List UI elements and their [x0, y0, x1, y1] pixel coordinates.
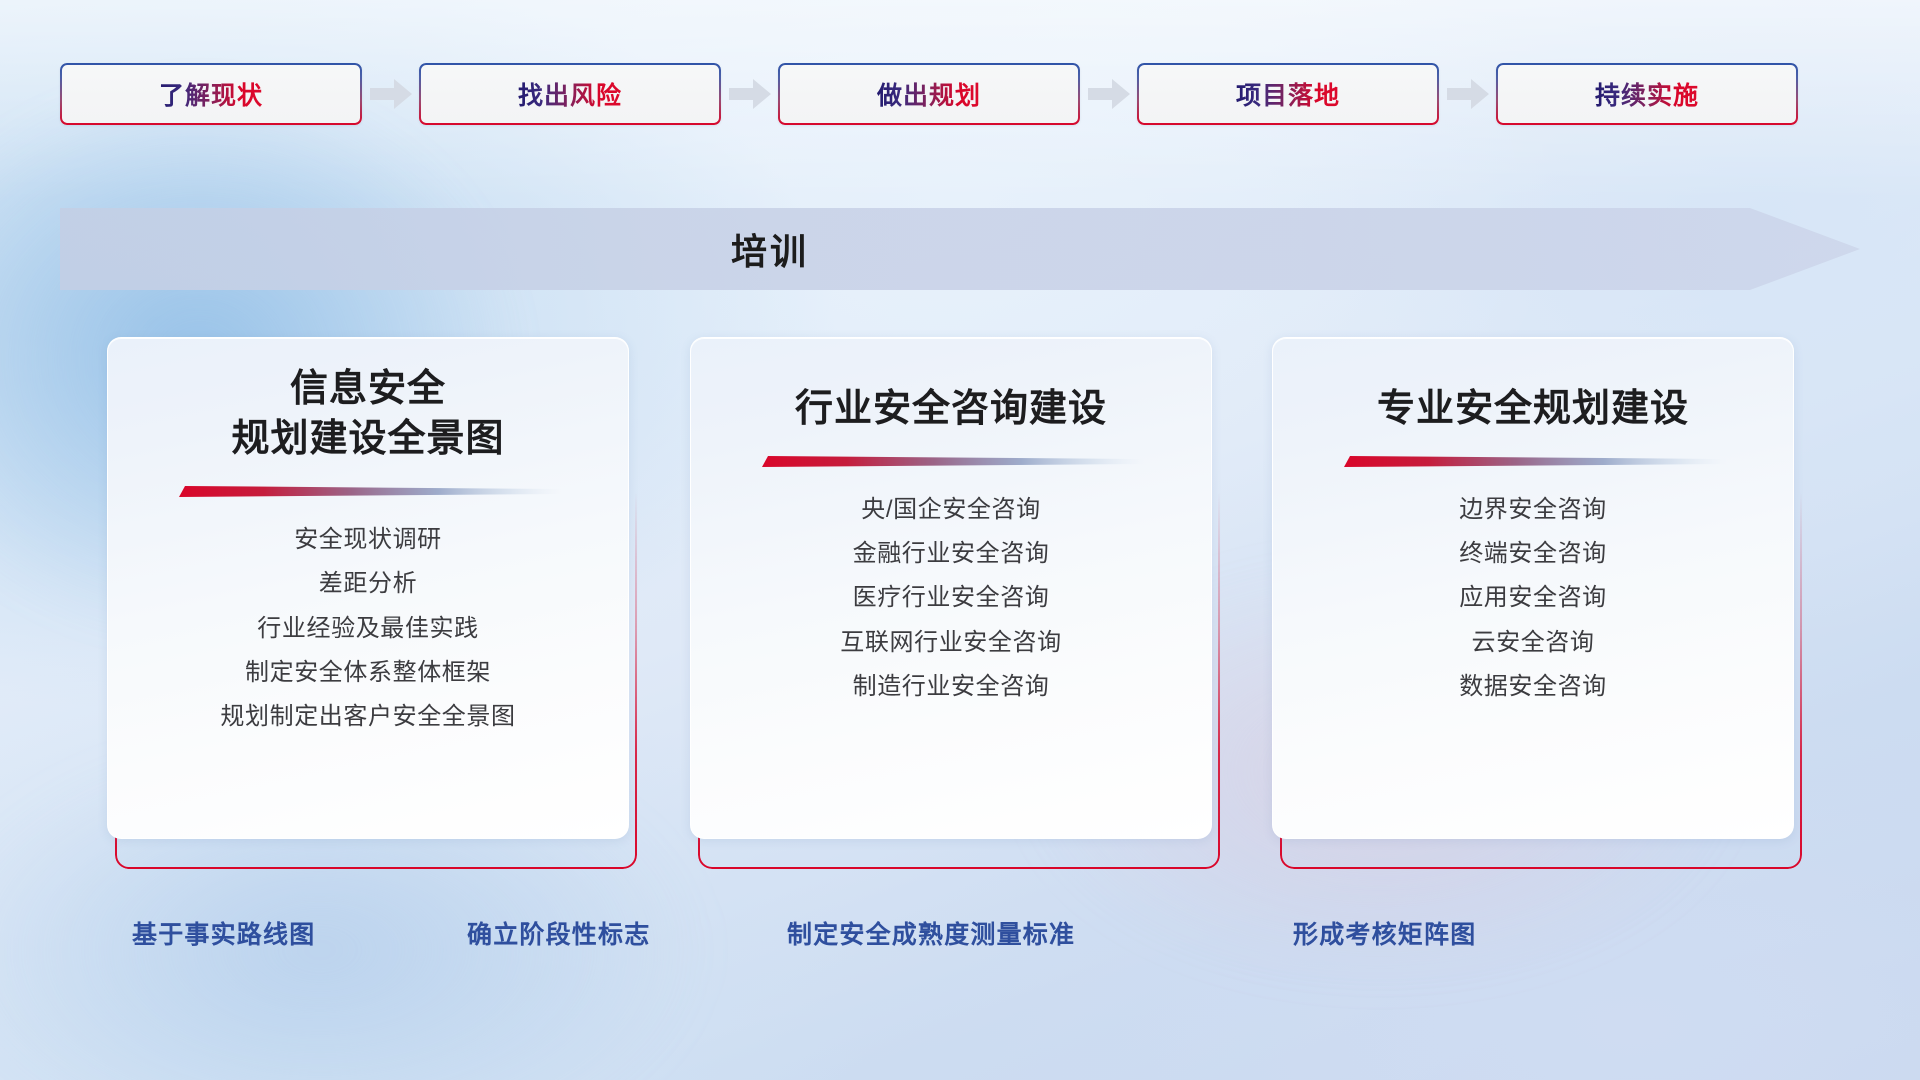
card-2-title-line1: 行业安全咨询建设 — [795, 384, 1107, 434]
list-item: 差距分析 — [108, 568, 628, 600]
bottom-label-1: 基于事实路线图 — [132, 915, 315, 951]
process-step-2-label: 找出风险 — [518, 76, 622, 112]
list-item: 数据安全咨询 — [1273, 671, 1793, 703]
card-3-divider — [1340, 454, 1726, 472]
process-step-2[interactable]: 找出风险 — [419, 63, 721, 125]
card-slot-2: 行业安全咨询建设 — [690, 337, 1220, 877]
training-band-title-wrap: 培训 — [60, 208, 1480, 290]
bottom-label-2: 确立阶段性标志 — [467, 915, 650, 951]
list-item: 行业经验及最佳实践 — [108, 613, 628, 645]
process-arrow-1 — [362, 63, 419, 125]
list-item: 金融行业安全咨询 — [691, 538, 1211, 570]
process-arrow-4 — [1439, 63, 1496, 125]
list-item: 终端安全咨询 — [1273, 538, 1793, 570]
list-item: 边界安全咨询 — [1273, 494, 1793, 526]
card-1-list: 安全现状调研 差距分析 行业经验及最佳实践 制定安全体系整体框架 规划制定出客户… — [108, 524, 628, 733]
bottom-label-4: 形成考核矩阵图 — [1293, 915, 1476, 951]
list-item: 央/国企安全咨询 — [691, 494, 1211, 526]
list-item: 应用安全咨询 — [1273, 582, 1793, 614]
card-3-title-line1: 专业安全规划建设 — [1377, 384, 1689, 434]
card-row: 信息安全 规划建设全景图 — [0, 337, 1920, 877]
process-step-5-label: 持续实施 — [1595, 76, 1699, 112]
process-arrow-2 — [721, 63, 778, 125]
process-step-3-label: 做出规划 — [877, 76, 981, 112]
card-1-title-line1: 信息安全 — [231, 364, 504, 414]
bottom-label-row: 基于事实路线图 确立阶段性标志 制定安全成熟度测量标准 形成考核矩阵图 — [0, 915, 1920, 965]
card-2[interactable]: 行业安全咨询建设 — [690, 337, 1212, 839]
list-item: 规划制定出客户安全全景图 — [108, 701, 628, 733]
list-item: 安全现状调研 — [108, 524, 628, 556]
process-step-1[interactable]: 了解现状 — [60, 63, 362, 125]
list-item: 医疗行业安全咨询 — [691, 582, 1211, 614]
training-arrow-band: 培训 — [60, 208, 1860, 290]
training-band-title: 培训 — [731, 223, 809, 275]
card-2-divider — [758, 454, 1144, 472]
bottom-label-3: 制定安全成熟度测量标准 — [787, 915, 1075, 951]
card-1-title-line2: 规划建设全景图 — [231, 414, 504, 464]
card-slot-3: 专业安全规划建设 — [1272, 337, 1802, 877]
card-1-title: 信息安全 规划建设全景图 — [213, 364, 522, 464]
list-item: 云安全咨询 — [1273, 627, 1793, 659]
process-step-4-label: 项目落地 — [1236, 76, 1340, 112]
process-step-row: 了解现状 找出风险 做出规划 项目落地 持续实施 — [60, 63, 1860, 125]
card-2-title: 行业安全咨询建设 — [777, 384, 1125, 434]
process-step-5[interactable]: 持续实施 — [1496, 63, 1798, 125]
card-3-title: 专业安全规划建设 — [1359, 384, 1707, 434]
list-item: 制定安全体系整体框架 — [108, 657, 628, 689]
card-1-divider — [175, 484, 561, 502]
card-2-list: 央/国企安全咨询 金融行业安全咨询 医疗行业安全咨询 互联网行业安全咨询 制造行… — [691, 494, 1211, 703]
list-item: 制造行业安全咨询 — [691, 671, 1211, 703]
process-step-3[interactable]: 做出规划 — [778, 63, 1080, 125]
list-item: 互联网行业安全咨询 — [691, 627, 1211, 659]
process-step-4[interactable]: 项目落地 — [1137, 63, 1439, 125]
card-3[interactable]: 专业安全规划建设 — [1272, 337, 1794, 839]
process-step-1-label: 了解现状 — [159, 76, 263, 112]
card-slot-1: 信息安全 规划建设全景图 — [107, 337, 637, 877]
card-3-list: 边界安全咨询 终端安全咨询 应用安全咨询 云安全咨询 数据安全咨询 — [1273, 494, 1793, 703]
card-1[interactable]: 信息安全 规划建设全景图 — [107, 337, 629, 839]
process-arrow-3 — [1080, 63, 1137, 125]
